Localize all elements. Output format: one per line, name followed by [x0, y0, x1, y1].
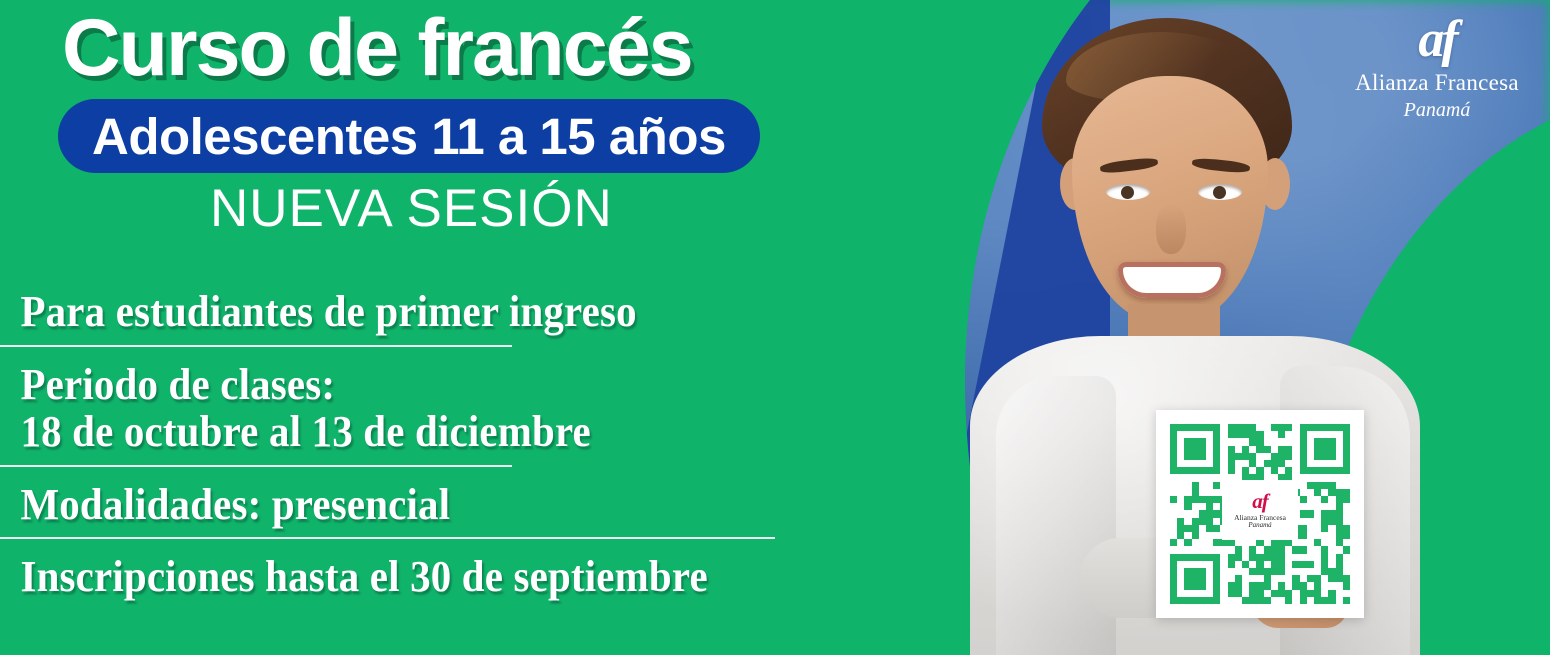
audience-badge: Adolescentes 11 a 15 años: [58, 99, 760, 173]
detail-row: Para estudiantes de primer ingreso: [0, 288, 900, 336]
detail-row: Modalidades: presencial: [0, 481, 900, 529]
photo-eye-right: [1198, 184, 1242, 200]
promo-banner: af Alianza Francesa Panamá af Alianza Fr…: [0, 0, 1550, 655]
detail-row: Inscripciones hasta el 30 de septiembre: [0, 553, 900, 601]
alianza-francesa-logo: af Alianza Francesa Panamá: [1342, 14, 1532, 121]
detail-line: Inscripciones hasta el 30 de septiembre: [0, 553, 837, 601]
qr-logo-name: Alianza Francesa: [1234, 514, 1286, 522]
audience-badge-label: Adolescentes 11 a 15 años: [92, 111, 726, 162]
detail-line: Modalidades: presencial: [0, 481, 837, 529]
detail-line: 18 de octubre al 13 de diciembre: [0, 408, 837, 456]
session-subtitle: NUEVA SESIÓN: [210, 182, 613, 235]
qr-logo-monogram: af: [1252, 491, 1268, 512]
qr-code[interactable]: af Alianza Francesa Panamá: [1156, 410, 1364, 618]
detail-divider: [0, 345, 512, 347]
logo-name: Alianza Francesa: [1342, 70, 1532, 96]
detail-line: Periodo de clases:: [0, 361, 837, 409]
page-title: Curso de francés: [62, 8, 692, 89]
photo-smile: [1118, 262, 1226, 298]
logo-monogram: af: [1342, 14, 1532, 66]
qr-center-logo: af Alianza Francesa Panamá: [1222, 480, 1298, 540]
photo-nose: [1156, 204, 1186, 254]
logo-country: Panamá: [1342, 99, 1532, 121]
detail-divider: [0, 537, 775, 539]
course-details-list: Para estudiantes de primer ingresoPeriod…: [0, 288, 900, 601]
detail-line: Para estudiantes de primer ingreso: [0, 288, 837, 336]
qr-logo-country: Panamá: [1248, 522, 1271, 529]
photo-eye-left: [1106, 184, 1150, 200]
detail-divider: [0, 465, 512, 467]
detail-row: Periodo de clases:18 de octubre al 13 de…: [0, 361, 900, 456]
